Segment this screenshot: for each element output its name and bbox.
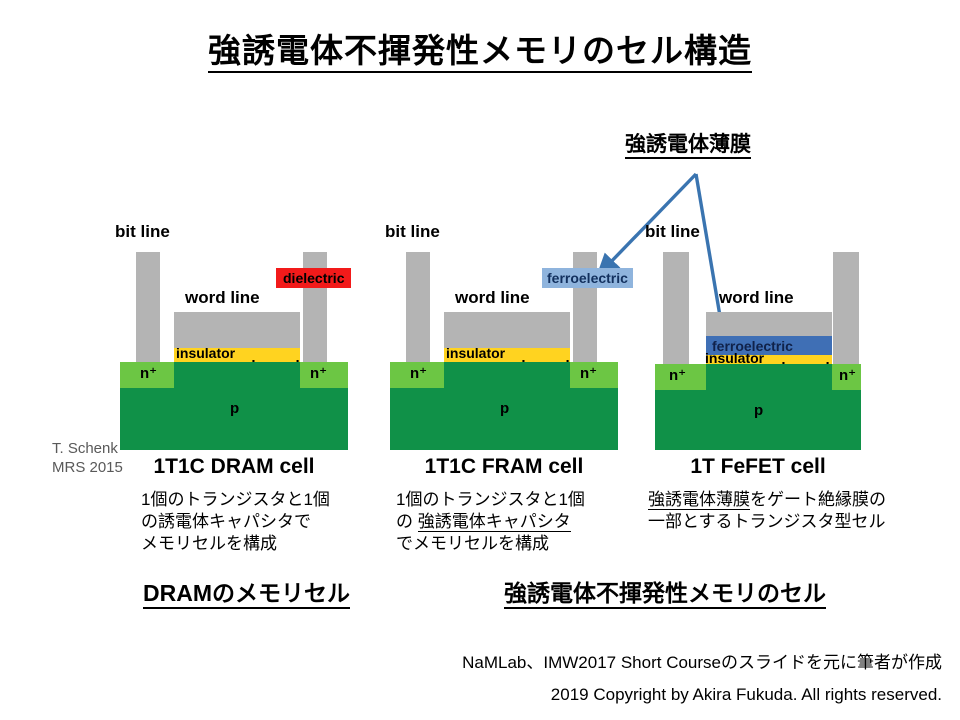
p-substrate [120,388,348,450]
cell-diagram-fefet: bit line word line ferroelectric insulat… [655,240,883,455]
cell-name-fram: 1T1C FRAM cell [390,455,618,479]
cell-name-fefet: 1T FeFET cell [655,455,861,479]
page-title-text: 強誘電体不揮発性メモリのセル構造 [208,32,752,73]
bit-line-pillar [406,252,430,364]
p-substrate [390,388,618,450]
summary-ferroelectric: 強誘電体不揮発性メモリのセル [504,574,826,608]
source-credit-line1: T. Schenk [52,440,123,459]
p-substrate-label: p [754,402,763,419]
insulator-label: insulator [446,345,505,361]
nplus-left-label: n⁺ [410,364,427,382]
word-line-label: word line [185,288,260,308]
nplus-right-label: n⁺ [839,366,856,384]
source-credit-line2: MRS 2015 [52,459,123,478]
source-credit: T. Schenk MRS 2015 [52,440,123,478]
nplus-left-label: n⁺ [140,364,157,382]
caption-fram-part2: でメモリセルを構成 [396,534,549,553]
channel-region [174,362,300,388]
nplus-left-label: n⁺ [669,366,686,384]
source-line-pillar [833,252,859,364]
caption-fefet: 強誘電体薄膜をゲート絶縁膜の 一部とするトランジスタ型セル [648,489,886,533]
caption-dram: 1個のトランジスタと1個 の誘電体キャパシタで メモリセルを構成 [141,489,330,555]
channel-region [706,364,832,390]
caption-fram-underline: 強誘電体キャパシタ [418,512,571,532]
bit-line-label: bit line [645,222,700,242]
nplus-right-label: n⁺ [310,364,327,382]
cell-diagram-dram: bit line dielectric word line insulator … [120,240,348,455]
word-line-label: word line [455,288,530,308]
nplus-right-label: n⁺ [580,364,597,382]
summary-ferroelectric-text: 強誘電体不揮発性メモリのセル [504,580,826,609]
bit-line-pillar [663,252,689,364]
p-substrate-label: p [230,400,239,417]
caption-fram: 1個のトランジスタと1個 の 強誘電体キャパシタ でメモリセルを構成 [396,489,585,555]
summary-dram-text: DRAMのメモリセル [143,580,350,609]
bit-line-label: bit line [385,222,440,242]
caption-fefet-underline: 強誘電体薄膜 [648,490,750,510]
bit-line-label: bit line [115,222,170,242]
word-line-label: word line [719,288,794,308]
summary-dram: DRAMのメモリセル [143,574,350,608]
page-title: 強誘電体不揮発性メモリのセル構造 [0,24,960,72]
callout-label-text: 強誘電体薄膜 [625,133,751,159]
footer-copyright: 2019 Copyright by Akira Fukuda. All righ… [551,685,942,705]
capacitor-ferroelectric-tag: ferroelectric [542,268,633,288]
slide-root: 強誘電体不揮発性メモリのセル構造 強誘電体薄膜 bit line dielect… [0,0,960,720]
footer-source: NaMLab、IMW2017 Short Courseのスライドを元に筆者が作成 [462,648,942,673]
cell-name-dram: 1T1C DRAM cell [120,455,348,479]
insulator-label: insulator [176,345,235,361]
p-substrate [655,390,861,450]
bit-line-pillar [136,252,160,364]
cell-diagram-fram: bit line ferroelectric word line insulat… [390,240,618,455]
callout-label: 強誘電体薄膜 [625,128,751,158]
channel-region [444,362,570,388]
p-substrate-label: p [500,400,509,417]
capacitor-dielectric-tag: dielectric [276,268,351,288]
